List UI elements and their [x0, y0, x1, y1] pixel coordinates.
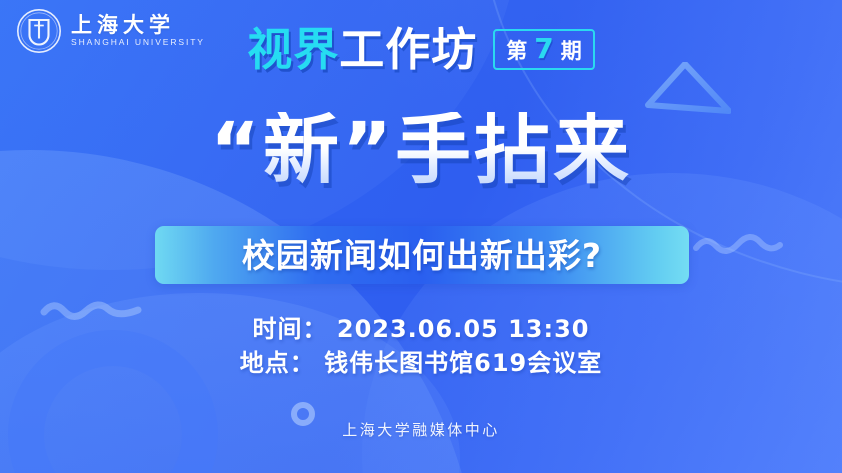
event-place-line: 地点： 钱伟长图书馆619会议室	[0, 346, 842, 380]
event-time-line: 时间： 2023.06.05 13:30	[0, 312, 842, 346]
series-title-highlight: 视界	[247, 23, 339, 76]
event-info: 时间： 2023.06.05 13:30 地点： 钱伟长图书馆619会议室	[0, 312, 842, 380]
issue-badge-prefix: 第	[506, 41, 527, 62]
issue-badge-number: 7	[534, 35, 553, 63]
subtitle-bar: 校园新闻如何出新出彩?	[155, 226, 689, 284]
poster-canvas: 上海大学 SHANGHAI UNIVERSITY 视界工作坊 第 7 期 “新”…	[0, 0, 842, 473]
series-title-plain: 工作坊	[339, 23, 477, 76]
series-title: 视界工作坊	[247, 27, 477, 72]
headline-title: “新”手拈来	[0, 112, 842, 188]
issue-badge: 第 7 期	[493, 29, 594, 70]
subtitle-text: 校园新闻如何出新出彩?	[242, 239, 602, 272]
issue-badge-suffix: 期	[561, 41, 582, 62]
series-title-row: 视界工作坊 第 7 期	[0, 27, 842, 72]
organizer-footer: 上海大学融媒体中心	[0, 419, 842, 440]
wave-squiggle-right-icon	[692, 232, 784, 258]
